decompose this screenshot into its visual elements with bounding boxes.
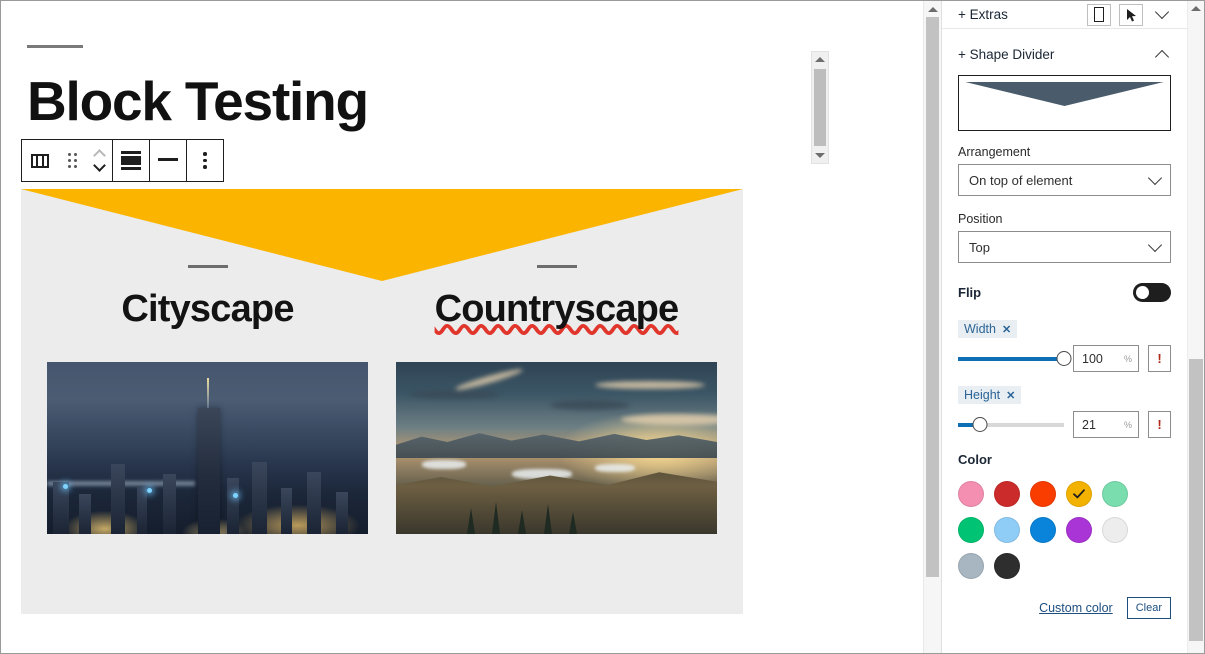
- chevron-down-icon: [1148, 237, 1162, 251]
- sidebar-vertical-scrollbar[interactable]: [1187, 1, 1204, 653]
- arrangement-value: On top of element: [969, 173, 1072, 188]
- column-countryscape[interactable]: Countryscape: [396, 265, 717, 580]
- mobile-preview-button[interactable]: [1087, 4, 1111, 26]
- page-title[interactable]: Block Testing: [27, 74, 923, 129]
- extras-collapse-button[interactable]: [1151, 4, 1173, 26]
- scroll-down-button[interactable]: [812, 148, 828, 163]
- shape-divider-preview[interactable]: [958, 75, 1171, 131]
- color-swatch-blue[interactable]: [1030, 517, 1056, 543]
- triangle-up-icon: [1191, 6, 1201, 11]
- align-center-icon: [121, 151, 141, 170]
- cursor-select-button[interactable]: [1119, 4, 1143, 26]
- height-reset-button[interactable]: !: [1148, 411, 1171, 438]
- mobile-device-icon: [1094, 7, 1104, 22]
- color-swatch-steel-grey[interactable]: [958, 553, 984, 579]
- editor-canvas[interactable]: Block Testing: [1, 1, 923, 653]
- move-block-buttons[interactable]: [86, 140, 112, 181]
- color-swatch-charcoal[interactable]: [994, 553, 1020, 579]
- extras-label: + Extras: [958, 7, 1008, 22]
- more-options-button[interactable]: [187, 140, 223, 181]
- column-decorative-rule: [537, 265, 577, 268]
- arrangement-select[interactable]: On top of element: [958, 164, 1171, 196]
- color-swatch-mint-green[interactable]: [1102, 481, 1128, 507]
- column-decorative-rule: [188, 265, 228, 268]
- settings-sidebar: + Extras: [941, 1, 1204, 653]
- height-slider[interactable]: [958, 416, 1064, 434]
- flip-label: Flip: [958, 285, 981, 300]
- toolbar-group-block: [22, 140, 113, 181]
- mountain-ridge: [396, 424, 717, 458]
- canvas-inner-scrollbar[interactable]: [811, 51, 829, 164]
- title-decorative-rule: [27, 45, 83, 48]
- post-title-area: Block Testing: [1, 1, 923, 129]
- columns-block-icon-button[interactable]: [22, 140, 58, 181]
- shape-divider-body: Arrangement On top of element Position T…: [942, 75, 1187, 627]
- color-swatch-pink[interactable]: [958, 481, 984, 507]
- color-swatch-red[interactable]: [994, 481, 1020, 507]
- flip-row: Flip: [958, 283, 1171, 302]
- inverted-triangle-icon: [959, 76, 1170, 108]
- slider-knob: [973, 417, 988, 432]
- editor-window: Block Testing: [0, 0, 1205, 654]
- height-chip: Height ✕: [958, 386, 1021, 404]
- columns-inner: Cityscape: [21, 189, 743, 614]
- height-label: Height: [964, 388, 1000, 402]
- height-unit: %: [1124, 420, 1132, 430]
- height-input[interactable]: 21 %: [1073, 411, 1139, 438]
- width-control-row: 100 % !: [958, 345, 1171, 372]
- width-chip: Width ✕: [958, 320, 1017, 338]
- scroll-up-button[interactable]: [1188, 1, 1204, 16]
- warning-icon: !: [1157, 351, 1161, 366]
- shape-divider-label: + Shape Divider: [958, 47, 1054, 62]
- editor-pane: Block Testing: [1, 1, 941, 653]
- color-label: Color: [958, 452, 1171, 467]
- cursor-pointer-icon: [1126, 8, 1137, 22]
- toggle-knob: [1136, 286, 1149, 299]
- chevron-up-icon: [1155, 49, 1169, 63]
- extras-buttons: [1087, 4, 1173, 26]
- align-center-button[interactable]: [113, 140, 149, 181]
- custom-color-link[interactable]: Custom color: [1039, 601, 1113, 615]
- scrollbar-thumb[interactable]: [926, 17, 939, 577]
- height-remove-icon[interactable]: ✕: [1006, 389, 1015, 402]
- column-cityscape[interactable]: Cityscape: [47, 265, 368, 580]
- triangle-down-icon: [815, 153, 825, 158]
- block-toolbar: [21, 139, 224, 182]
- extras-panel-header[interactable]: + Extras: [942, 1, 1187, 29]
- slider-fill: [958, 357, 1064, 361]
- column-heading[interactable]: Countryscape: [435, 290, 679, 328]
- color-footer: Custom color Clear: [958, 597, 1171, 619]
- chevron-down-icon: [1148, 170, 1162, 184]
- warning-icon: !: [1157, 417, 1161, 432]
- editor-vertical-scrollbar[interactable]: [923, 1, 941, 653]
- cityscape-image[interactable]: [47, 362, 368, 534]
- scrollbar-thumb[interactable]: [1189, 359, 1203, 641]
- triangle-up-icon: [928, 7, 938, 12]
- shape-divider-panel-header[interactable]: + Shape Divider: [942, 29, 1187, 75]
- width-unit: %: [1124, 354, 1132, 364]
- width-reset-button[interactable]: !: [1148, 345, 1171, 372]
- check-icon: [1072, 487, 1086, 501]
- drag-handle-button[interactable]: [58, 140, 86, 181]
- color-swatch-off-white[interactable]: [1102, 517, 1128, 543]
- chevron-down-icon: [1155, 5, 1169, 19]
- position-label: Position: [958, 212, 1171, 226]
- color-swatch-orange-red[interactable]: [1030, 481, 1056, 507]
- countryscape-image[interactable]: [396, 362, 717, 534]
- more-vertical-icon: [203, 152, 207, 169]
- vertical-align-top-icon: [158, 158, 178, 163]
- position-value: Top: [969, 240, 990, 255]
- sidebar-content: + Extras: [942, 1, 1187, 653]
- drag-handle-icon: [68, 153, 77, 168]
- toolbar-group-more: [187, 140, 223, 181]
- height-control-row: 21 % !: [958, 411, 1171, 438]
- height-value: 21: [1082, 418, 1096, 432]
- scroll-up-button[interactable]: [924, 1, 941, 17]
- toolbar-group-align: [113, 140, 150, 181]
- arrangement-label: Arrangement: [958, 145, 1171, 159]
- width-label: Width: [964, 322, 996, 336]
- color-swatch-emerald[interactable]: [958, 517, 984, 543]
- position-select[interactable]: Top: [958, 231, 1171, 263]
- width-slider[interactable]: [958, 350, 1064, 368]
- color-swatch-light-blue[interactable]: [994, 517, 1020, 543]
- columns-block[interactable]: Cityscape: [21, 189, 743, 614]
- clear-color-button[interactable]: Clear: [1127, 597, 1171, 619]
- color-swatch-grid: [958, 481, 1171, 579]
- columns-icon: [31, 154, 49, 168]
- slider-knob: [1057, 351, 1072, 366]
- width-remove-icon[interactable]: ✕: [1002, 323, 1011, 336]
- width-value: 100: [1082, 352, 1103, 366]
- chevron-down-icon: [93, 159, 106, 172]
- triangle-up-icon: [815, 57, 825, 62]
- scrollbar-thumb[interactable]: [814, 69, 826, 146]
- vertical-align-top-button[interactable]: [150, 140, 186, 181]
- flip-toggle[interactable]: [1133, 283, 1171, 302]
- column-heading[interactable]: Cityscape: [121, 290, 293, 328]
- color-swatch-amber[interactable]: [1066, 481, 1092, 507]
- toolbar-group-valign: [150, 140, 187, 181]
- skyscraper-tower: [198, 408, 220, 534]
- width-input[interactable]: 100 %: [1073, 345, 1139, 372]
- scroll-up-button[interactable]: [812, 52, 828, 67]
- color-swatch-purple[interactable]: [1066, 517, 1092, 543]
- shape-divider-collapse-button[interactable]: [1151, 43, 1173, 65]
